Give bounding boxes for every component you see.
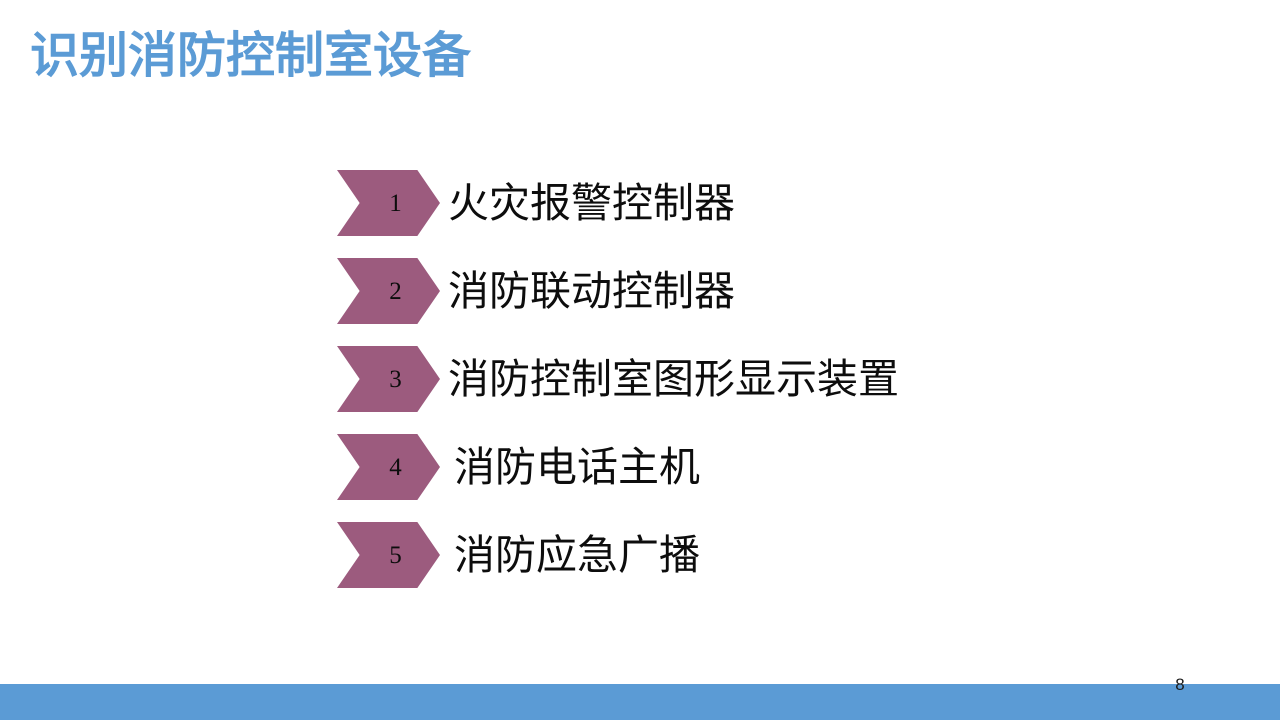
- list-item[interactable]: 5 消防应急广播: [0, 522, 1280, 610]
- list-item-label-5: 消防应急广播: [454, 522, 700, 588]
- list-item-label-3: 消防控制室图形显示装置: [448, 346, 899, 412]
- chevron-number-3: 3: [337, 346, 440, 412]
- slide-canvas: 识别消防控制室设备 1 火灾报警控制器 2 消防联动控制器 3 消防控制室图形显…: [0, 0, 1280, 720]
- chevron-number-2: 2: [337, 258, 440, 324]
- list-item[interactable]: 4 消防电话主机: [0, 434, 1280, 522]
- list-item-label-4: 消防电话主机: [454, 434, 700, 500]
- list-item[interactable]: 1 火灾报警控制器: [0, 170, 1280, 258]
- list-item[interactable]: 3 消防控制室图形显示装置: [0, 346, 1280, 434]
- chevron-number-4: 4: [337, 434, 440, 500]
- footer-bar: [0, 684, 1280, 720]
- list-item[interactable]: 2 消防联动控制器: [0, 258, 1280, 346]
- chevron-number-5: 5: [337, 522, 440, 588]
- equipment-list: 1 火灾报警控制器 2 消防联动控制器 3 消防控制室图形显示装置 4 消防电话…: [0, 170, 1280, 610]
- chevron-number-1: 1: [337, 170, 440, 236]
- list-item-label-2: 消防联动控制器: [448, 258, 735, 324]
- list-item-label-1: 火灾报警控制器: [448, 170, 735, 236]
- page-number: 8: [1168, 675, 1192, 695]
- page-title: 识别消防控制室设备: [30, 27, 471, 85]
